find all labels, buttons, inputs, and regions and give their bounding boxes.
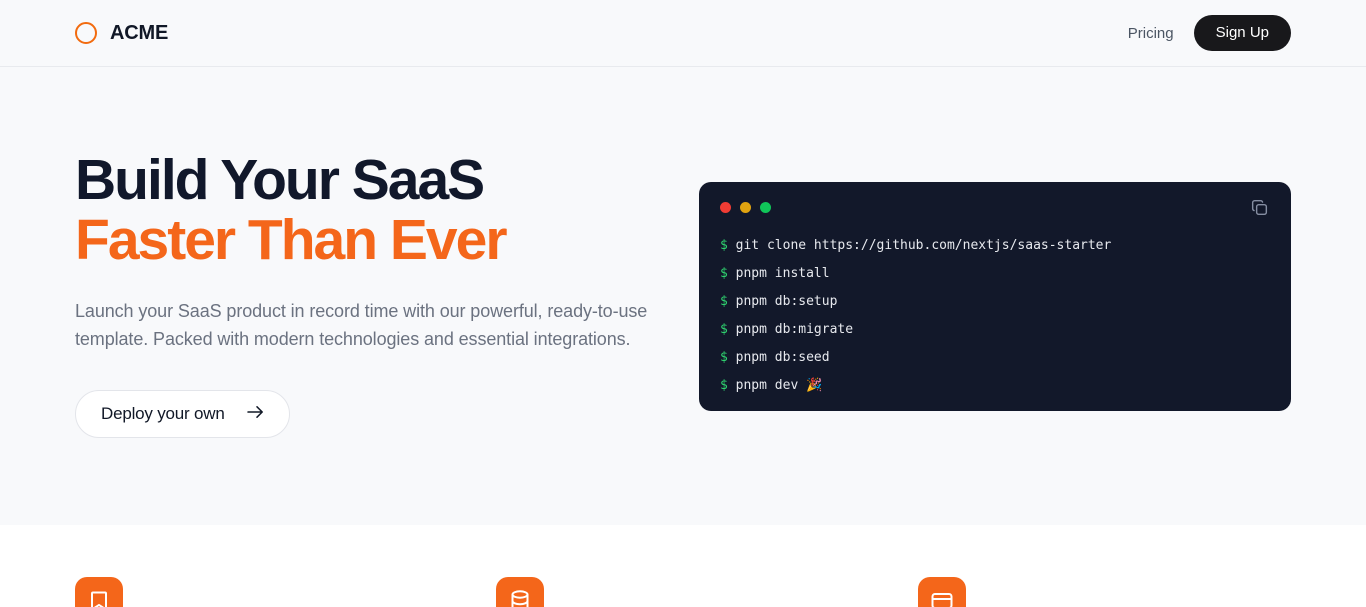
brand-name: ACME	[110, 22, 168, 45]
features-grid	[75, 525, 1291, 607]
credit-card-icon	[918, 577, 966, 607]
header-nav: Pricing Sign Up	[1126, 15, 1291, 50]
terminal-prompt: $	[720, 266, 728, 281]
database-icon	[496, 577, 544, 607]
terminal-prompt: $	[720, 378, 728, 393]
terminal-command: pnpm db:seed	[736, 350, 830, 365]
terminal-prompt: $	[720, 238, 728, 253]
hero-title: Build Your SaaS Faster Than Ever	[75, 150, 675, 271]
terminal-line: $ pnpm db:setup	[720, 288, 1271, 316]
terminal-window: $ git clone https://github.com/nextjs/sa…	[699, 182, 1291, 411]
terminal-line: $ git clone https://github.com/nextjs/sa…	[720, 232, 1271, 260]
deploy-your-own-button[interactable]: Deploy your own	[75, 390, 290, 438]
arrow-right-icon	[247, 404, 264, 424]
brand-logo-link[interactable]: ACME	[75, 22, 168, 45]
terminal-prompt: $	[720, 350, 728, 365]
deploy-button-label: Deploy your own	[101, 404, 225, 424]
hero-subtitle: Launch your SaaS product in record time …	[75, 298, 650, 354]
hero-title-line-1: Build Your SaaS	[75, 148, 483, 212]
hero-copy: Build Your SaaS Faster Than Ever Launch …	[75, 67, 675, 438]
terminal-line: $ pnpm db:seed	[720, 344, 1271, 372]
window-close-icon[interactable]	[720, 202, 731, 213]
terminal-command: git clone https://github.com/nextjs/saas…	[736, 238, 1112, 253]
hero-section: Build Your SaaS Faster Than Ever Launch …	[0, 67, 1366, 525]
terminal-line: $ pnpm db:migrate	[720, 316, 1271, 344]
feature-item	[918, 577, 1291, 607]
window-minimize-icon[interactable]	[740, 202, 751, 213]
features-section	[0, 525, 1366, 607]
terminal-prompt: $	[720, 322, 728, 337]
terminal-line: $ pnpm install	[720, 260, 1271, 288]
terminal-line: $ pnpm dev 🎉	[720, 372, 1271, 400]
terminal-titlebar	[713, 200, 1271, 214]
bookmark-icon	[75, 577, 123, 607]
copy-icon[interactable]	[1250, 198, 1269, 217]
terminal-traffic-lights	[720, 202, 771, 213]
hero-title-line-2: Faster Than Ever	[75, 210, 675, 270]
feature-item	[75, 577, 448, 607]
terminal-command: pnpm db:migrate	[736, 322, 853, 337]
terminal-prompt: $	[720, 294, 728, 309]
terminal-command: pnpm install	[736, 266, 830, 281]
feature-item	[496, 577, 869, 607]
terminal-command: pnpm db:setup	[736, 294, 838, 309]
circle-outline-icon	[75, 22, 97, 44]
terminal-command: pnpm dev 🎉	[736, 378, 823, 393]
terminal-output: $ git clone https://github.com/nextjs/sa…	[713, 232, 1271, 400]
nav-item-pricing[interactable]: Pricing	[1126, 21, 1176, 46]
site-header: ACME Pricing Sign Up	[0, 0, 1366, 67]
window-maximize-icon[interactable]	[760, 202, 771, 213]
sign-up-button[interactable]: Sign Up	[1194, 15, 1291, 50]
